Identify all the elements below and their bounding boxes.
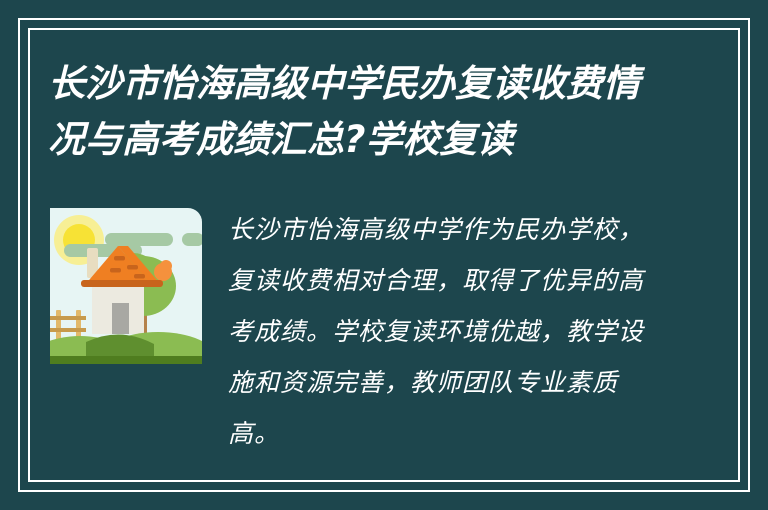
article-cover-card: 长沙市怡海高级中学民办复读收费情况与高考成绩汇总?学校复读 [0,0,768,510]
illustration-scene [50,208,202,364]
content-row: 长沙市怡海高级中学作为民办学校，复读收费相对合理，取得了优异的高考成绩。学校复读… [48,204,720,434]
fence-rail-bottom [50,328,86,332]
ground-strip [50,356,202,364]
roof-tile-1 [114,256,125,261]
house-door [112,303,129,334]
tree-fruit-2 [160,260,172,272]
roof-tile-2 [127,265,138,270]
cloud-upper-right [182,233,202,246]
page-title: 长沙市怡海高级中学民办复读收费情况与高考成绩汇总?学校复读 [48,56,648,168]
house-countryside-illustration [50,208,202,364]
article-summary-text: 长沙市怡海高级中学作为民办学校，复读收费相对合理，取得了优异的高考成绩。学校复读… [228,204,668,459]
roof-eave [81,280,163,287]
roof-tile-3 [110,268,121,273]
fence-rail-top [50,316,86,320]
roof-tile-4 [134,274,145,279]
